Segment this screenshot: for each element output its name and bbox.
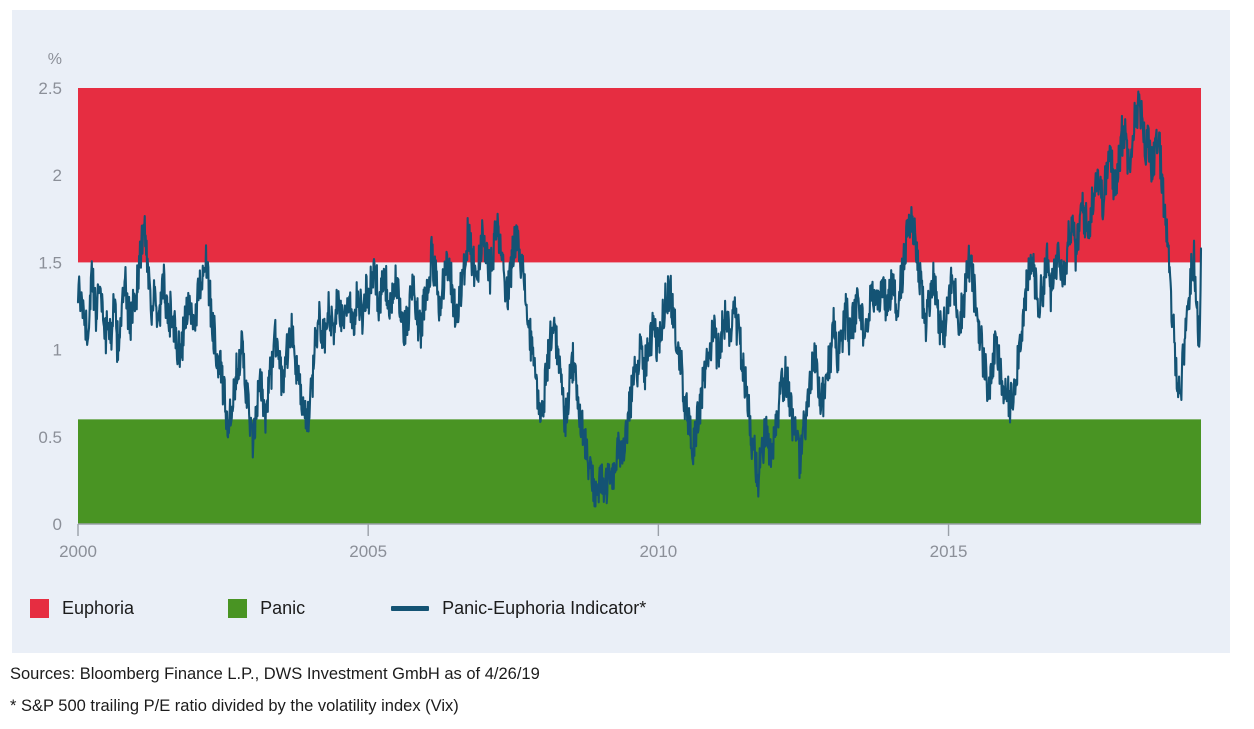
band-euphoria — [78, 88, 1201, 262]
threshold-bands — [78, 88, 1201, 524]
legend-label-indicator: Panic-Euphoria Indicator* — [442, 598, 646, 619]
legend-item-indicator[interactable]: Panic-Euphoria Indicator* — [391, 598, 646, 619]
y-tick-label: 1 — [53, 341, 62, 360]
indicator-line-swatch-icon — [391, 606, 429, 611]
band-panic — [78, 419, 1201, 524]
legend-item-euphoria[interactable]: Euphoria — [30, 598, 134, 619]
y-axis-unit: % — [48, 51, 62, 68]
y-tick-label: 1.5 — [38, 253, 62, 272]
chart-legend: Euphoria Panic Panic-Euphoria Indicator* — [30, 595, 646, 621]
legend-label-panic: Panic — [260, 598, 305, 619]
y-tick-label: 2 — [53, 166, 62, 185]
x-tick-label: 2005 — [349, 542, 387, 561]
y-tick-label: 2.5 — [38, 79, 62, 98]
y-unit-label: % — [48, 51, 62, 68]
x-tick-label: 2010 — [639, 542, 677, 561]
asterisk-note: * S&P 500 trailing P/E ratio divided by … — [10, 695, 1240, 717]
x-tick-label: 2000 — [59, 542, 97, 561]
chart-figure: 2.521.510.50 2000200520102015 % Euphoria… — [0, 0, 1254, 729]
y-tick-label: 0.5 — [38, 428, 62, 447]
legend-label-euphoria: Euphoria — [62, 598, 134, 619]
axis-group — [78, 524, 1201, 536]
legend-item-panic[interactable]: Panic — [228, 598, 305, 619]
x-tick-label: 2015 — [930, 542, 968, 561]
y-tick-label: 0 — [53, 515, 62, 534]
panic-swatch-icon — [228, 599, 247, 618]
source-note: Sources: Bloomberg Finance L.P., DWS Inv… — [10, 663, 1240, 685]
euphoria-swatch-icon — [30, 599, 49, 618]
footnotes: Sources: Bloomberg Finance L.P., DWS Inv… — [10, 663, 1240, 728]
x-tick-labels: 2000200520102015 — [59, 542, 967, 561]
y-tick-labels: 2.521.510.50 — [38, 79, 62, 534]
